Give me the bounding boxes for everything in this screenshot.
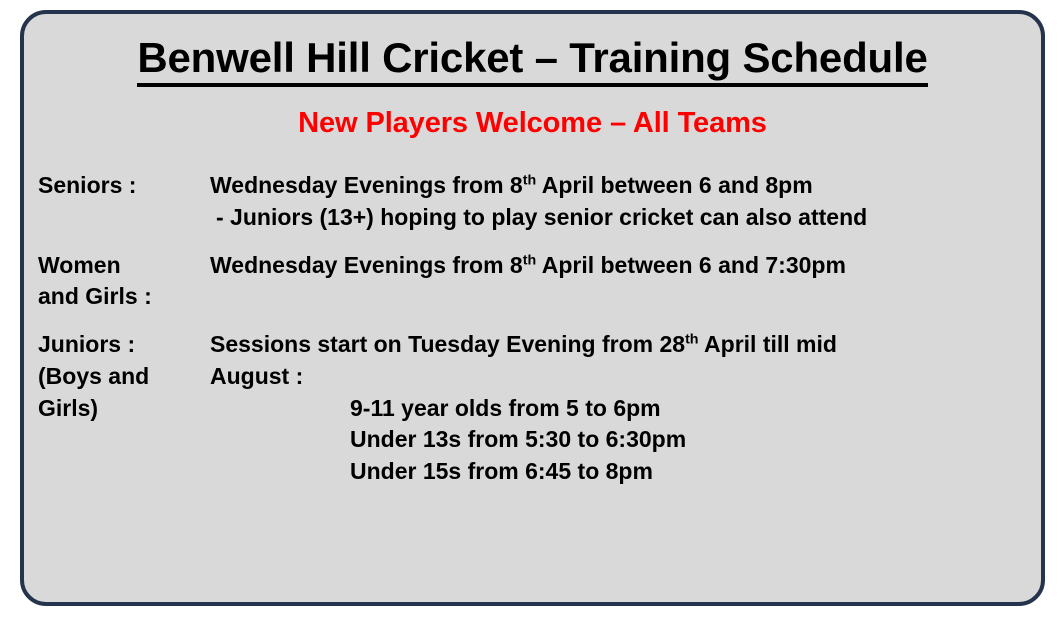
schedule-row-label: Seniors : [38,170,210,202]
page-title: Benwell Hill Cricket – Training Schedule [137,36,927,87]
label-line: Juniors : [38,329,210,361]
content-text: Under 15s from 6:45 to 8pm [350,458,653,484]
content-text: April till mid [699,331,837,357]
schedule-rows: Seniors :Wednesday Evenings from 8th Apr… [24,170,1041,488]
content-text: April between 6 and 8pm [536,172,812,198]
schedule-row: Juniors :(Boys andGirls)Sessions start o… [38,329,1041,488]
content-line: - Juniors (13+) hoping to play senior cr… [210,202,1041,234]
ordinal-suffix: th [523,172,536,188]
content-text: August : [210,363,303,389]
content-line: Under 15s from 6:45 to 8pm [210,456,1041,488]
schedule-row-label: Juniors :(Boys andGirls) [38,329,210,424]
ordinal-suffix: th [685,331,698,347]
content-text: - Juniors (13+) hoping to play senior cr… [216,204,867,230]
subtitle-banner: New Players Welcome – All Teams [298,107,767,140]
label-line: Girls) [38,393,210,425]
label-line: (Boys and [38,361,210,393]
content-line: Wednesday Evenings from 8th April betwee… [210,170,1041,202]
schedule-row-content: Wednesday Evenings from 8th April betwee… [210,170,1041,233]
label-line: Seniors : [38,170,210,202]
schedule-row-content: Sessions start on Tuesday Evening from 2… [210,329,1041,488]
content-line: Wednesday Evenings from 8th April betwee… [210,250,1041,282]
content-line: Sessions start on Tuesday Evening from 2… [210,329,1041,361]
content-text: Under 13s from 5:30 to 6:30pm [350,426,686,452]
training-schedule-poster: Benwell Hill Cricket – Training Schedule… [20,10,1045,606]
content-text: 9-11 year olds from 5 to 6pm [350,395,661,421]
content-line: 9-11 year olds from 5 to 6pm [210,393,1041,425]
content-text: April between 6 and 7:30pm [536,252,846,278]
schedule-row-label: Womenand Girls : [38,250,210,313]
ordinal-suffix: th [523,252,536,268]
schedule-row-content: Wednesday Evenings from 8th April betwee… [210,250,1041,282]
schedule-row: Womenand Girls :Wednesday Evenings from … [38,250,1041,313]
subtitle-container: New Players Welcome – All Teams [24,107,1041,140]
label-line: Women [38,250,210,282]
schedule-row: Seniors :Wednesday Evenings from 8th Apr… [38,170,1041,233]
label-line: and Girls : [38,281,210,313]
content-text: Sessions start on Tuesday Evening from 2… [210,331,685,357]
content-line: August : [210,361,1041,393]
content-line: Under 13s from 5:30 to 6:30pm [210,424,1041,456]
content-text: Wednesday Evenings from 8 [210,252,523,278]
title-container: Benwell Hill Cricket – Training Schedule [24,36,1041,87]
content-text: Wednesday Evenings from 8 [210,172,523,198]
